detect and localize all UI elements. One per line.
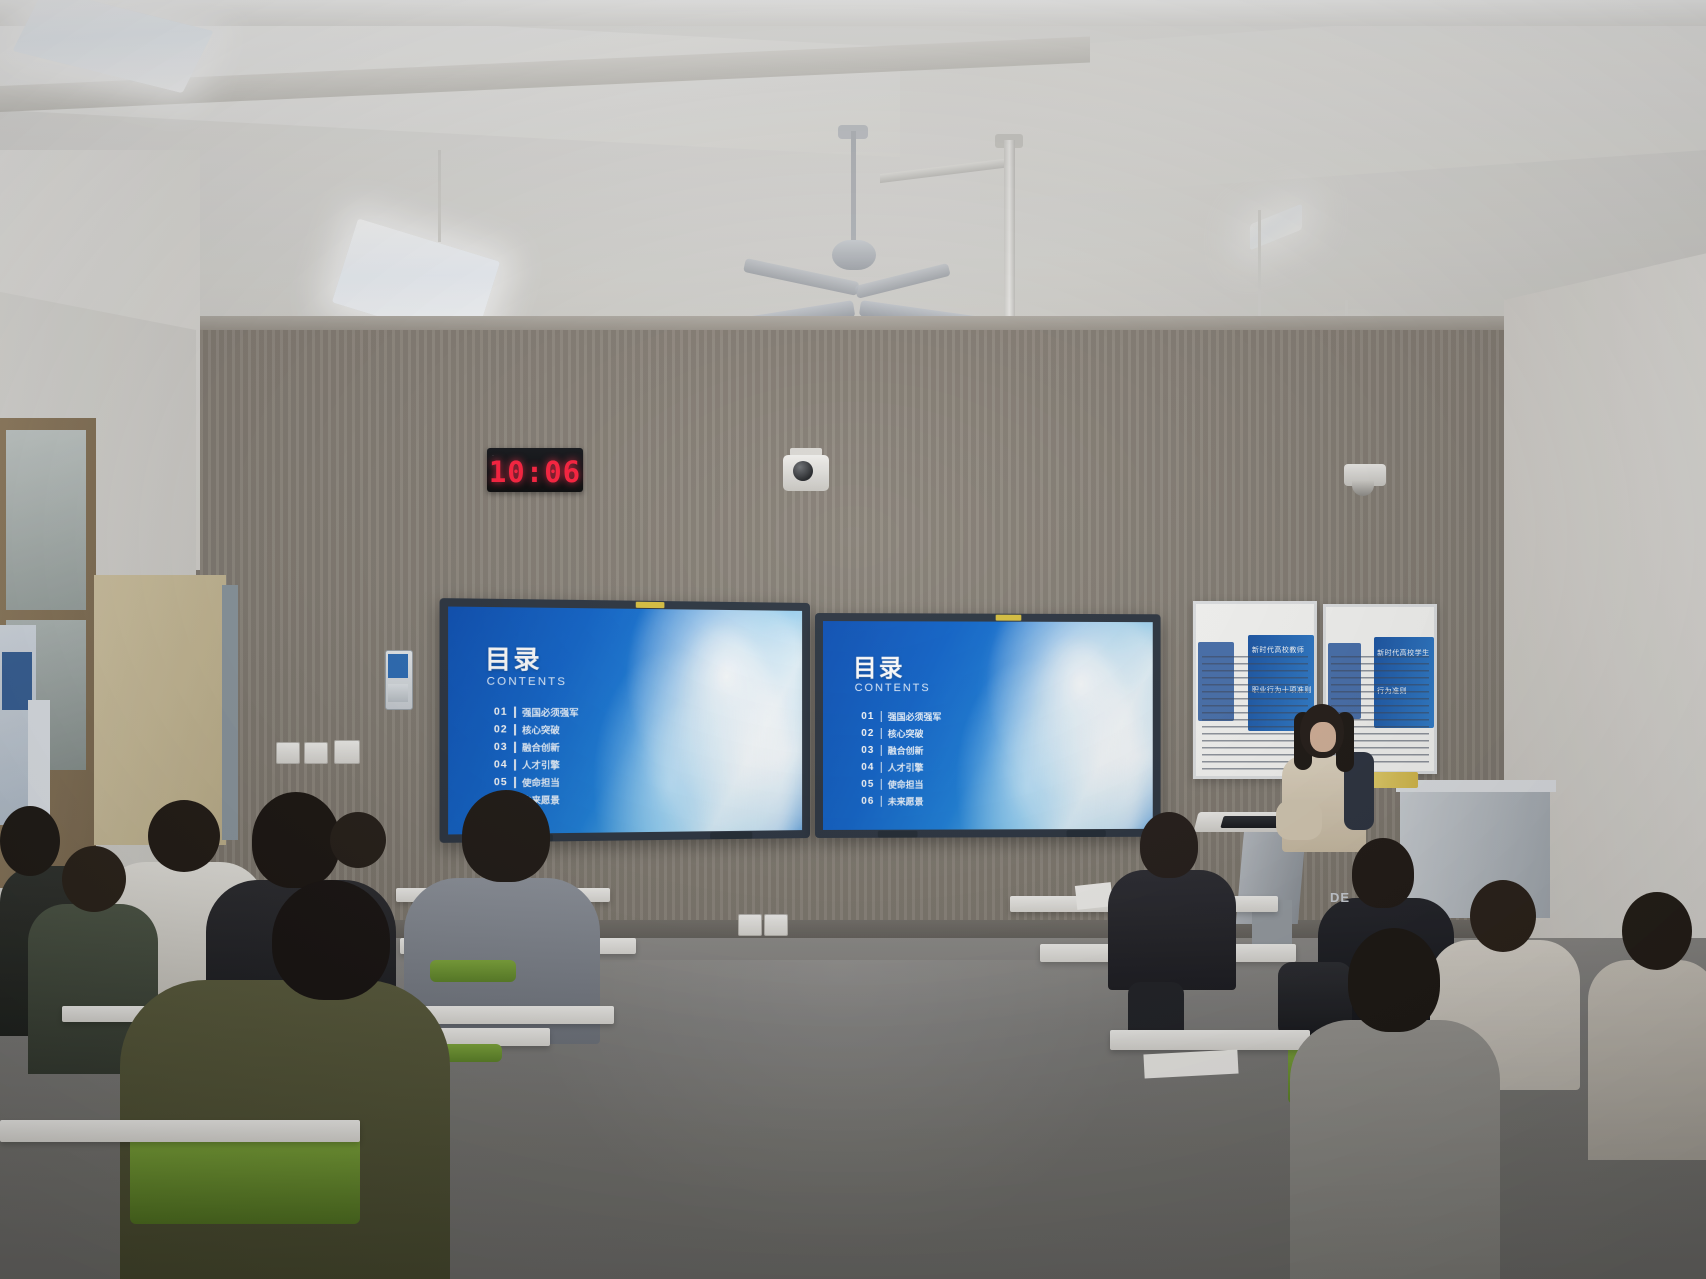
toc-item: 01 强国必须强军 <box>494 705 701 721</box>
seated-student-head <box>1140 812 1198 878</box>
notebook-page <box>1143 1050 1238 1079</box>
toc-list-right: 01 强国必须强军 02 核心突破 03 融合创新 04 人才引 <box>861 709 1053 811</box>
slide-title: 目录 <box>853 648 905 683</box>
jacket-print: DE <box>1330 890 1386 910</box>
slide-subtitle: CONTENTS <box>855 682 931 694</box>
toc-divider <box>880 762 881 773</box>
toc-number: 03 <box>861 745 874 756</box>
wall-socket[interactable] <box>334 740 360 764</box>
toc-item: 02 核心突破 <box>494 722 701 738</box>
wall-socket[interactable] <box>738 914 762 936</box>
right-display-panel: 目录 CONTENTS 01 强国必须强军 02 核心突破 03 融合创新 <box>823 621 1153 830</box>
toc-number: 02 <box>494 724 508 735</box>
toc-item: 01 强国必须强军 <box>861 709 1053 724</box>
toc-number: 05 <box>861 779 874 790</box>
toc-label: 使命担当 <box>888 778 924 791</box>
toc-divider <box>514 707 516 718</box>
toc-item: 06 未来愿景 <box>861 793 1053 808</box>
wall-socket[interactable] <box>764 914 788 936</box>
toc-label: 强国必须强军 <box>522 706 579 719</box>
display-speaker <box>1067 830 1106 837</box>
toc-item: 05 使命担当 <box>494 774 701 791</box>
toc-number: 04 <box>494 759 508 770</box>
door-glass-pane <box>6 430 86 610</box>
toc-label: 核心突破 <box>522 723 560 736</box>
display-indicator <box>636 602 665 608</box>
control-panel-buttons[interactable] <box>388 684 408 702</box>
seated-student-head <box>0 806 60 876</box>
toc-number: 03 <box>494 742 508 753</box>
toc-label: 未来愿景 <box>888 795 924 808</box>
toc-number: 01 <box>494 707 508 718</box>
classroom-chair[interactable] <box>130 1132 360 1224</box>
wall-socket[interactable] <box>276 742 300 764</box>
seated-student-head <box>148 800 220 872</box>
display-speaker <box>878 831 918 838</box>
foreground-student-head <box>272 880 390 1000</box>
toc-label: 人才引擎 <box>888 761 924 774</box>
toc-divider <box>514 724 516 735</box>
presenter-face <box>1310 722 1336 752</box>
toc-label: 融合创新 <box>888 744 924 757</box>
toc-divider <box>880 711 881 722</box>
poster-heading-line1: 新时代高校教师 <box>1252 645 1305 655</box>
presenter-arm <box>1276 800 1322 840</box>
seated-student-head <box>1470 880 1536 952</box>
wall-strip <box>28 700 50 820</box>
toc-label: 核心突破 <box>888 727 924 740</box>
right-presentation-display[interactable]: 目录 CONTENTS 01 强国必须强军 02 核心突破 03 融合创新 <box>815 613 1161 838</box>
toc-number: 04 <box>861 762 874 773</box>
toc-divider <box>880 779 881 790</box>
clock-time: 10:06 <box>487 455 583 489</box>
toc-item: 04 人才引擎 <box>861 759 1053 774</box>
seated-student-head <box>252 792 340 888</box>
toc-item: 03 融合创新 <box>494 739 701 755</box>
toc-item: 02 核心突破 <box>861 726 1053 741</box>
fan-down-rod <box>851 131 856 246</box>
classroom-photo: · 10:06 目录 CONTENTS 01 强国必须强军 02 核心突破 <box>0 0 1706 1279</box>
toc-number: 05 <box>494 777 508 788</box>
seated-student-body <box>1108 870 1236 990</box>
ceiling-fan-icon <box>832 240 876 270</box>
control-panel-screen[interactable] <box>388 654 408 678</box>
toc-divider <box>514 759 516 770</box>
seated-student-body <box>1588 960 1706 1160</box>
toc-item: 04 人才引擎 <box>494 757 701 773</box>
lamp-suspension-rod <box>438 150 441 242</box>
seated-student-head <box>330 812 386 868</box>
slide-title: 目录 <box>485 639 542 677</box>
toc-divider <box>514 742 516 753</box>
toc-label: 融合创新 <box>522 741 560 755</box>
camera-lens-icon <box>793 461 813 481</box>
poster-body-text <box>1202 656 1308 771</box>
seated-student-head <box>462 790 550 882</box>
student-desk <box>1110 1030 1310 1050</box>
toc-label: 人才引擎 <box>522 758 560 772</box>
slide-subtitle: CONTENTS <box>487 675 567 688</box>
toc-item: 05 使命担当 <box>861 776 1053 791</box>
toc-number: 01 <box>861 711 874 722</box>
floor-reflection <box>520 960 1160 1260</box>
toc-label: 强国必须强军 <box>888 710 942 723</box>
toc-divider <box>880 728 881 739</box>
toc-item: 03 融合创新 <box>861 743 1053 758</box>
seated-student-head <box>62 846 126 912</box>
display-speaker <box>711 832 753 840</box>
toc-divider <box>880 796 881 807</box>
wooden-door-panel[interactable] <box>94 575 226 845</box>
toc-number: 06 <box>861 796 874 807</box>
ceiling-beam-front <box>0 0 1706 26</box>
toc-number: 02 <box>861 728 874 739</box>
wall-clock: · 10:06 <box>487 448 583 492</box>
books-on-cabinet <box>1370 772 1418 788</box>
classroom-chair[interactable] <box>430 960 516 982</box>
wall-socket[interactable] <box>304 742 328 764</box>
cabinet-top <box>1396 780 1556 792</box>
toc-divider <box>514 777 516 788</box>
toc-divider <box>880 745 881 756</box>
door-edge <box>222 585 238 840</box>
display-indicator <box>996 615 1022 621</box>
student-desk <box>0 1120 360 1142</box>
toc-label: 使命担当 <box>522 776 560 790</box>
seated-student-head <box>1622 892 1692 970</box>
student-desk <box>414 1006 614 1024</box>
seated-student-body <box>1290 1020 1500 1279</box>
seated-student-head <box>1348 928 1440 1032</box>
